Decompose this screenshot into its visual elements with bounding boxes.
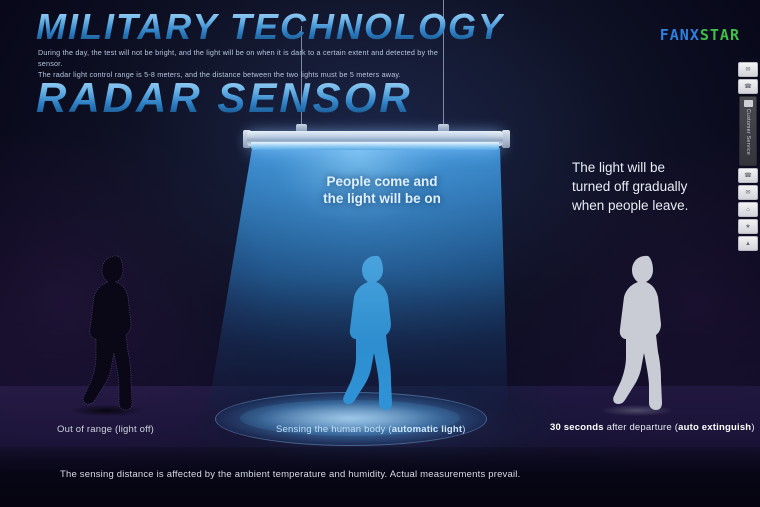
widget-button-home[interactable]: ⌂ — [738, 202, 758, 217]
right-caption-line2: turned off gradually — [572, 177, 732, 196]
walking-person-silhouette-lit — [338, 253, 412, 413]
center-caption-line2: the light will be on — [287, 190, 477, 207]
widget-button-email[interactable]: ✉ — [738, 185, 758, 200]
widget-customer-service-panel[interactable]: Customer Service — [739, 96, 757, 166]
center-caption-line1: People come and — [287, 173, 477, 190]
caption-right-bold2: auto extinguish — [678, 422, 751, 433]
chat-icon — [744, 100, 753, 107]
widget-button-phone-top[interactable]: ☎ — [738, 79, 758, 94]
caption-sensing-body: Sensing the human body (automatic light) — [276, 424, 466, 435]
caption-auto-extinguish: 30 seconds after departure (auto extingu… — [550, 422, 755, 433]
floating-service-widget[interactable]: ✉ ☎ Customer Service ☎ ✉ ⌂ ★ ▲ — [738, 62, 758, 251]
walking-person-silhouette-fading — [608, 253, 682, 413]
widget-button-phone[interactable]: ☎ — [738, 168, 758, 183]
caption-right-middle: after departure ( — [604, 422, 678, 433]
caption-sensing-suffix: ) — [462, 424, 465, 435]
header-subtitle: During the day, the test will not be bri… — [38, 47, 458, 80]
caption-right-duration: 30 seconds — [550, 422, 604, 433]
caption-out-of-range: Out of range (light off) — [57, 424, 154, 435]
caption-sensing-prefix: Sensing the human body ( — [276, 424, 392, 435]
widget-button-message[interactable]: ✉ — [738, 62, 758, 77]
subtitle-line-1: During the day, the test will not be bri… — [38, 47, 458, 69]
page-title-line1: MILITARY TECHNOLOGY — [36, 6, 504, 48]
center-caption: People come and the light will be on — [287, 173, 477, 207]
page-title-line2: RADAR SENSOR — [36, 74, 413, 122]
right-caption-line3: when people leave. — [572, 196, 732, 215]
caption-right-suffix: ) — [751, 422, 754, 433]
lamp-end-cap-right — [502, 130, 510, 148]
walking-person-silhouette-unlit — [78, 253, 152, 413]
subtitle-line-2: The radar light control range is 5-8 met… — [38, 69, 458, 80]
widget-customer-service-label: Customer Service — [744, 109, 752, 155]
widget-button-favorite[interactable]: ★ — [738, 219, 758, 234]
lamp-light-tube — [251, 142, 499, 150]
caption-sensing-bold: automatic light — [392, 424, 463, 435]
right-caption: The light will be turned off gradually w… — [572, 158, 732, 215]
infographic-canvas: MILITARY TECHNOLOGY RADAR SENSOR During … — [0, 0, 760, 507]
logo-text-primary: FANX — [660, 26, 700, 44]
footnote-text: The sensing distance is affected by the … — [60, 469, 520, 480]
logo-text-secondary: STAR — [700, 26, 740, 44]
right-caption-line1: The light will be — [572, 158, 732, 177]
brand-logo: FANXSTAR — [660, 26, 740, 44]
widget-button-scroll-top[interactable]: ▲ — [738, 236, 758, 251]
